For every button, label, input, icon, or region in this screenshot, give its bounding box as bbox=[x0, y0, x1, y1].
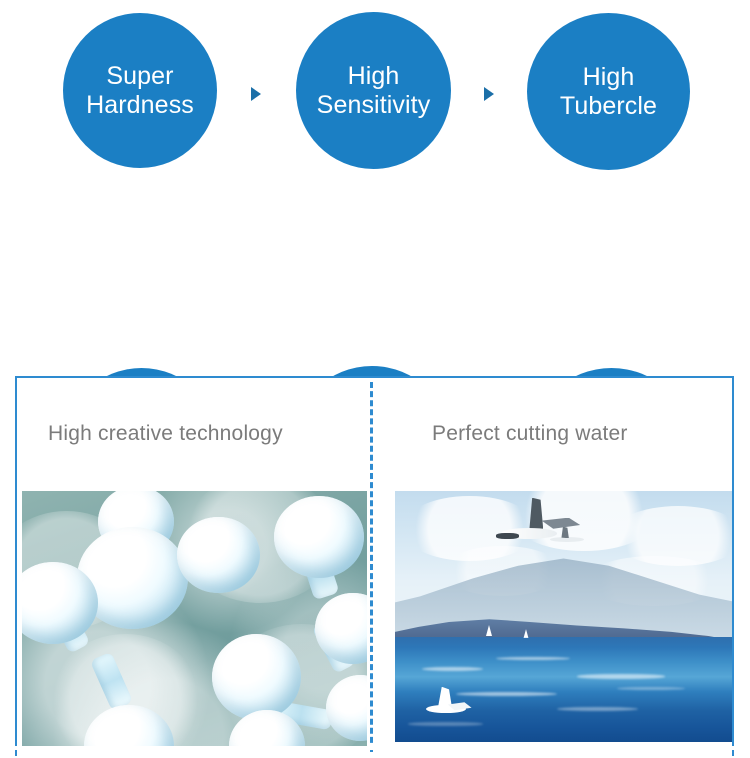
gull-icon-small bbox=[550, 529, 584, 549]
arrow-right-icon bbox=[484, 87, 494, 101]
showcase-image-right bbox=[395, 491, 732, 742]
showcase-image-left bbox=[22, 491, 367, 746]
feature-circle-high-tubercle[interactable]: High Tubercle bbox=[527, 13, 690, 170]
feature-circle-label: High Sensitivity bbox=[311, 62, 437, 120]
arrow-right-icon bbox=[251, 87, 261, 101]
feature-flow-row-1: Super Hardness High Sensitivity High Tub… bbox=[0, 0, 750, 180]
feature-circle-label: Super Hardness bbox=[80, 62, 200, 120]
showcase-panel: High creative technology bbox=[15, 376, 734, 756]
showcase-cell-left: High creative technology bbox=[17, 378, 370, 758]
feature-circle-high-sensitivity[interactable]: High Sensitivity bbox=[296, 12, 451, 169]
feature-circle-label: High Tubercle bbox=[554, 63, 663, 121]
seagulls-over-lake-icon bbox=[395, 491, 732, 742]
gull-icon-water bbox=[422, 687, 476, 722]
showcase-cell-right: Perfect cutting water bbox=[373, 378, 732, 758]
page-bottom-fill bbox=[0, 746, 750, 750]
showcase-caption-left: High creative technology bbox=[48, 422, 283, 446]
showcase-caption-right: Perfect cutting water bbox=[432, 422, 628, 446]
feature-flow-row-2: High Quality Standard wire ZERO Suction bbox=[0, 178, 750, 358]
ice-crystal-molecule-icon bbox=[22, 491, 367, 746]
feature-flow-diagram: Super Hardness High Sensitivity High Tub… bbox=[0, 0, 750, 360]
feature-circle-super-hardness[interactable]: Super Hardness bbox=[63, 13, 217, 168]
